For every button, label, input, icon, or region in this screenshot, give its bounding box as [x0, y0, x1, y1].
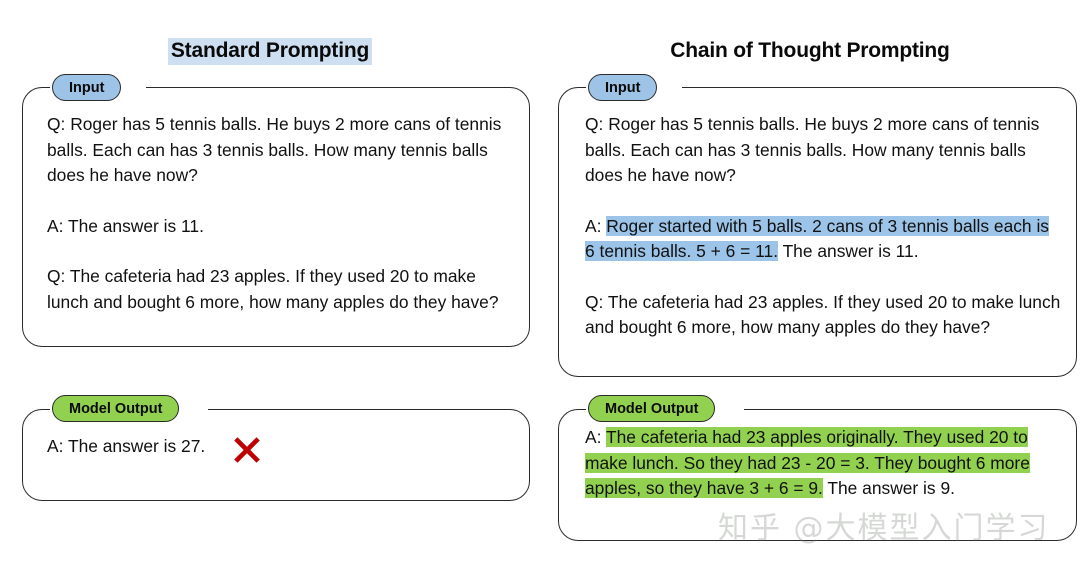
panel-title-standard-text: Standard Prompting — [168, 38, 372, 65]
cot-output-content: A: The cafeteria had 23 apples originall… — [585, 425, 1067, 502]
standard-input-pill: Input — [52, 74, 121, 101]
panel-title-cot: Chain of Thought Prompting — [540, 38, 1080, 65]
standard-output-text: A: The answer is 27. — [47, 434, 497, 460]
standard-input-pill-label: Input — [69, 80, 104, 96]
chain-of-thought-figure: Standard Prompting Input Q: Roger has 5 … — [0, 0, 1080, 562]
standard-output-content: A: The answer is 27. — [47, 434, 497, 460]
cot-input-content: Q: Roger has 5 tennis balls. He buys 2 m… — [585, 112, 1062, 341]
panel-title-cot-text: Chain of Thought Prompting — [667, 38, 952, 65]
standard-output-pill-label: Model Output — [69, 401, 162, 417]
cot-input-answer: A: Roger started with 5 balls. 2 cans of… — [585, 214, 1062, 265]
cot-input-answer-prefix: A: — [585, 216, 606, 236]
standard-input-paragraph-2: A: The answer is 11. — [47, 214, 517, 240]
standard-input-paragraph-3: Q: The cafeteria had 23 apples. If they … — [47, 264, 517, 315]
standard-output-pill: Model Output — [52, 395, 179, 422]
incorrect-cross-icon — [231, 434, 263, 470]
panel-chain-of-thought-prompting: Chain of Thought Prompting Input Q: Roge… — [540, 0, 1080, 562]
cot-input-answer-suffix: The answer is 11. — [778, 241, 918, 261]
cot-input-question-2: Q: The cafeteria had 23 apples. If they … — [585, 290, 1062, 341]
cot-input-question-1: Q: Roger has 5 tennis balls. He buys 2 m… — [585, 112, 1062, 189]
cot-output-suffix: The answer is 9. — [823, 478, 955, 498]
cot-output-pill-label: Model Output — [605, 401, 698, 417]
cot-output-highlight: The cafeteria had 23 apples originally. … — [585, 427, 1030, 498]
cot-output-answer: A: The cafeteria had 23 apples originall… — [585, 425, 1067, 502]
panel-title-standard: Standard Prompting — [0, 38, 540, 65]
standard-input-paragraph-1: Q: Roger has 5 tennis balls. He buys 2 m… — [47, 112, 517, 189]
standard-input-content: Q: Roger has 5 tennis balls. He buys 2 m… — [47, 112, 517, 315]
cot-output-pill: Model Output — [588, 395, 715, 422]
panel-standard-prompting: Standard Prompting Input Q: Roger has 5 … — [0, 0, 540, 562]
cot-input-pill-label: Input — [605, 80, 640, 96]
cot-output-prefix: A: — [585, 427, 606, 447]
cot-input-pill: Input — [588, 74, 657, 101]
